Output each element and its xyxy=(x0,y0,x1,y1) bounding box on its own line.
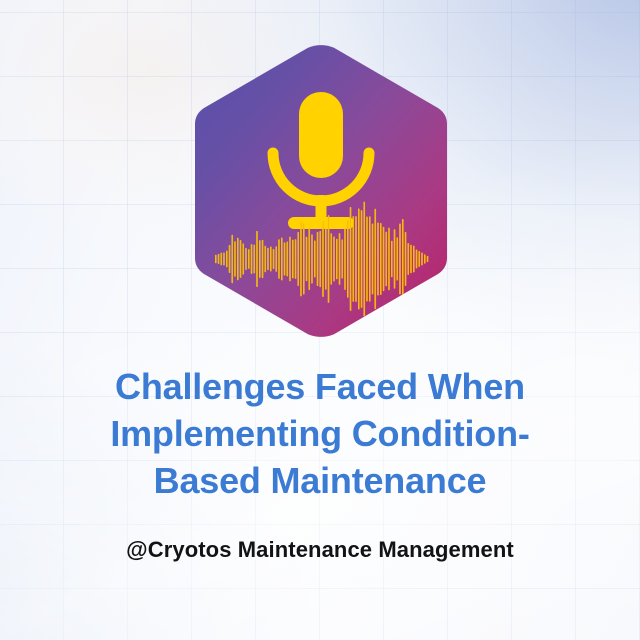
page-title: Challenges Faced When Implementing Condi… xyxy=(20,364,620,504)
channel-handle: @Cryotos Maintenance Management xyxy=(20,536,620,564)
podcast-cover-card: Challenges Faced When Implementing Condi… xyxy=(0,0,640,640)
hexagon-badge xyxy=(195,45,447,337)
podcast-logo xyxy=(195,45,447,337)
